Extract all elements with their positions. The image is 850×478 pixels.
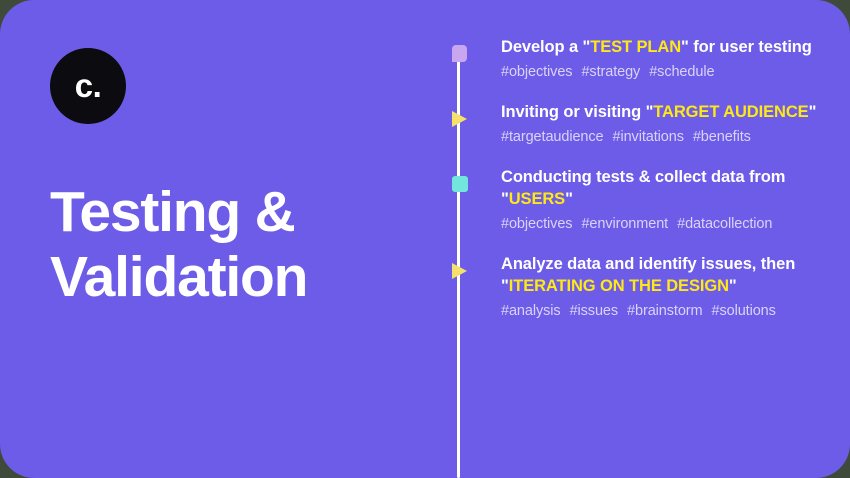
timeline-item: Develop a "TEST PLAN" for user testing#o…	[448, 36, 820, 82]
timeline-list: Develop a "TEST PLAN" for user testing#o…	[448, 36, 820, 321]
square-cyan-icon	[451, 174, 469, 195]
slide-canvas: c. Testing & Validation Develop a "TEST …	[0, 0, 850, 478]
tag-chip: #objectives	[501, 216, 572, 232]
flag-lavender-icon	[451, 44, 469, 65]
timeline-item: Analyze data and identify issues, then "…	[448, 253, 820, 321]
timeline-heading-text: Inviting or visiting "	[501, 103, 653, 121]
timeline-item-tags: #analysis#issues#brainstorm#solutions	[501, 302, 820, 321]
flag-lavender-icon-shape	[452, 45, 467, 62]
timeline-item-heading: Conducting tests & collect data from "US…	[501, 166, 820, 210]
tag-chip: #analysis	[501, 303, 561, 319]
square-cyan-icon-shape	[452, 176, 468, 192]
pennant-yellow-icon-shape	[452, 111, 467, 127]
tag-chip: #environment	[581, 216, 668, 232]
timeline-item-tags: #objectives#environment#datacollection	[501, 215, 820, 234]
logo-text: c.	[75, 69, 102, 102]
page-title-line-2: Validation	[50, 245, 410, 310]
tag-chip: #objectives	[501, 64, 572, 80]
tag-chip: #schedule	[649, 64, 714, 80]
timeline-heading-text: Develop a "	[501, 38, 590, 56]
timeline-heading-text: "	[809, 103, 817, 121]
timeline-heading-text: "	[729, 277, 737, 295]
timeline-heading-highlight: TEST PLAN	[590, 38, 681, 56]
tag-chip: #issues	[570, 303, 618, 319]
timeline-heading-highlight: USERS	[509, 190, 565, 208]
page-title-line-1: Testing &	[50, 180, 410, 245]
timeline-item: Conducting tests & collect data from "US…	[448, 166, 820, 234]
pennant-yellow-icon	[451, 261, 469, 282]
left-panel: c. Testing & Validation	[50, 48, 410, 348]
tag-chip: #brainstorm	[627, 303, 702, 319]
pennant-yellow-icon-shape	[452, 263, 467, 279]
tag-chip: #solutions	[712, 303, 776, 319]
timeline-item-heading: Inviting or visiting "TARGET AUDIENCE"	[501, 101, 820, 123]
timeline-heading-highlight: TARGET AUDIENCE	[653, 103, 808, 121]
timeline-item: Inviting or visiting "TARGET AUDIENCE"#t…	[448, 101, 820, 147]
timeline-item-tags: #targetaudience#invitations#benefits	[501, 128, 820, 147]
page-title: Testing & Validation	[50, 180, 410, 310]
tag-chip: #invitations	[613, 129, 684, 145]
tag-chip: #benefits	[693, 129, 751, 145]
timeline-item-tags: #objectives#strategy#schedule	[501, 63, 820, 82]
tag-chip: #strategy	[581, 64, 640, 80]
tag-chip: #targetaudience	[501, 129, 604, 145]
pennant-yellow-icon	[451, 109, 469, 130]
timeline-item-heading: Analyze data and identify issues, then "…	[501, 253, 820, 297]
timeline-item-heading: Develop a "TEST PLAN" for user testing	[501, 36, 820, 58]
tag-chip: #datacollection	[677, 216, 772, 232]
logo-badge: c.	[50, 48, 126, 124]
timeline-heading-highlight: ITERATING ON THE DESIGN	[509, 277, 729, 295]
timeline-heading-text: "	[565, 190, 573, 208]
timeline-heading-text: " for user testing	[681, 38, 812, 56]
